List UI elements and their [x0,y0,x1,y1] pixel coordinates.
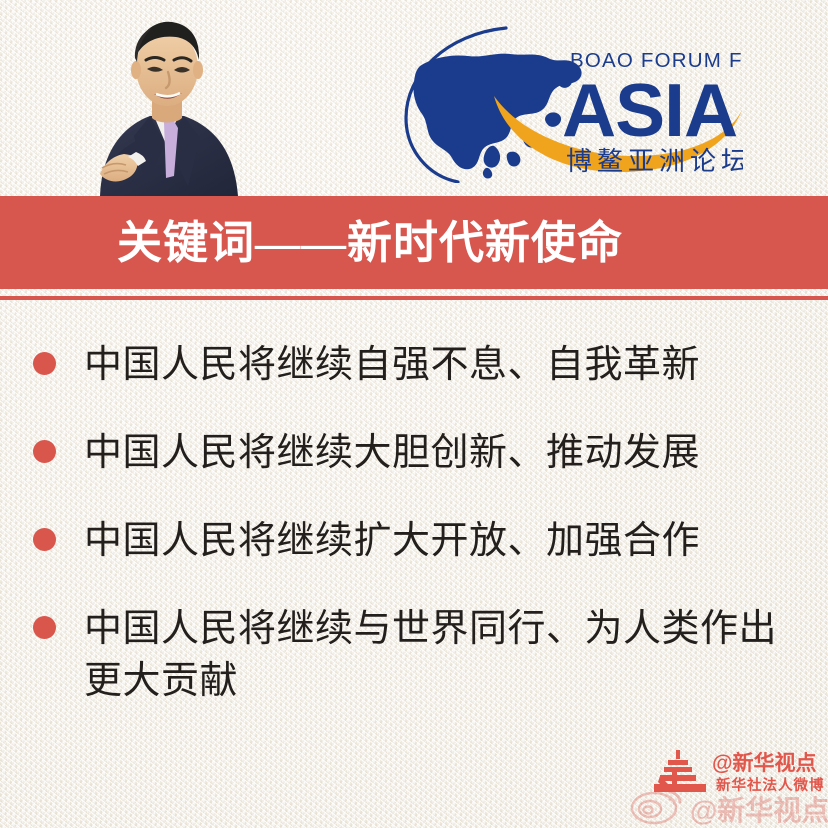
poster-root: BOAO FORUM FOR ASIA 博鳌亚洲论坛 关键词——新时代新使命 中… [0,0,828,828]
speaker-portrait [84,6,246,196]
bullet-dot-icon [33,528,56,551]
list-item-label: 中国人民将继续与世界同行、为人类作出更大贡献 [84,594,804,707]
list-item-label: 中国人民将继续自强不息、自我革新 [84,330,804,391]
poster-header: BOAO FORUM FOR ASIA 博鳌亚洲论坛 [0,0,828,196]
weibo-watermark: @新华视点 [628,784,828,826]
key-points-list: 中国人民将继续自强不息、自我革新 中国人民将继续大胆创新、推动发展 中国人民将继… [0,330,828,707]
list-item-label: 中国人民将继续扩大开放、加强合作 [84,506,804,567]
list-item: 中国人民将继续扩大开放、加强合作 [0,506,828,594]
boao-forum-logo: BOAO FORUM FOR ASIA 博鳌亚洲论坛 [398,18,743,183]
list-item: 中国人民将继续与世界同行、为人类作出更大贡献 [0,594,828,707]
banner-divider-rule [0,296,828,300]
weibo-eye-icon [632,792,680,823]
page-title: 关键词——新时代新使命 [117,214,623,272]
svg-text:博鳌亚洲论坛: 博鳌亚洲论坛 [566,147,743,176]
list-item: 中国人民将继续自强不息、自我革新 [0,330,828,418]
list-item-label: 中国人民将继续大胆创新、推动发展 [84,418,804,479]
bullet-dot-icon [33,352,56,375]
bullet-dot-icon [33,616,56,639]
weibo-watermark-handle: @新华视点 [690,794,828,826]
xinhua-handle-text: @新华视点 [712,751,816,775]
svg-text:ASIA: ASIA [562,68,737,152]
title-banner: 关键词——新时代新使命 [0,196,828,289]
bullet-dot-icon [33,440,56,463]
list-item: 中国人民将继续大胆创新、推动发展 [0,418,828,506]
